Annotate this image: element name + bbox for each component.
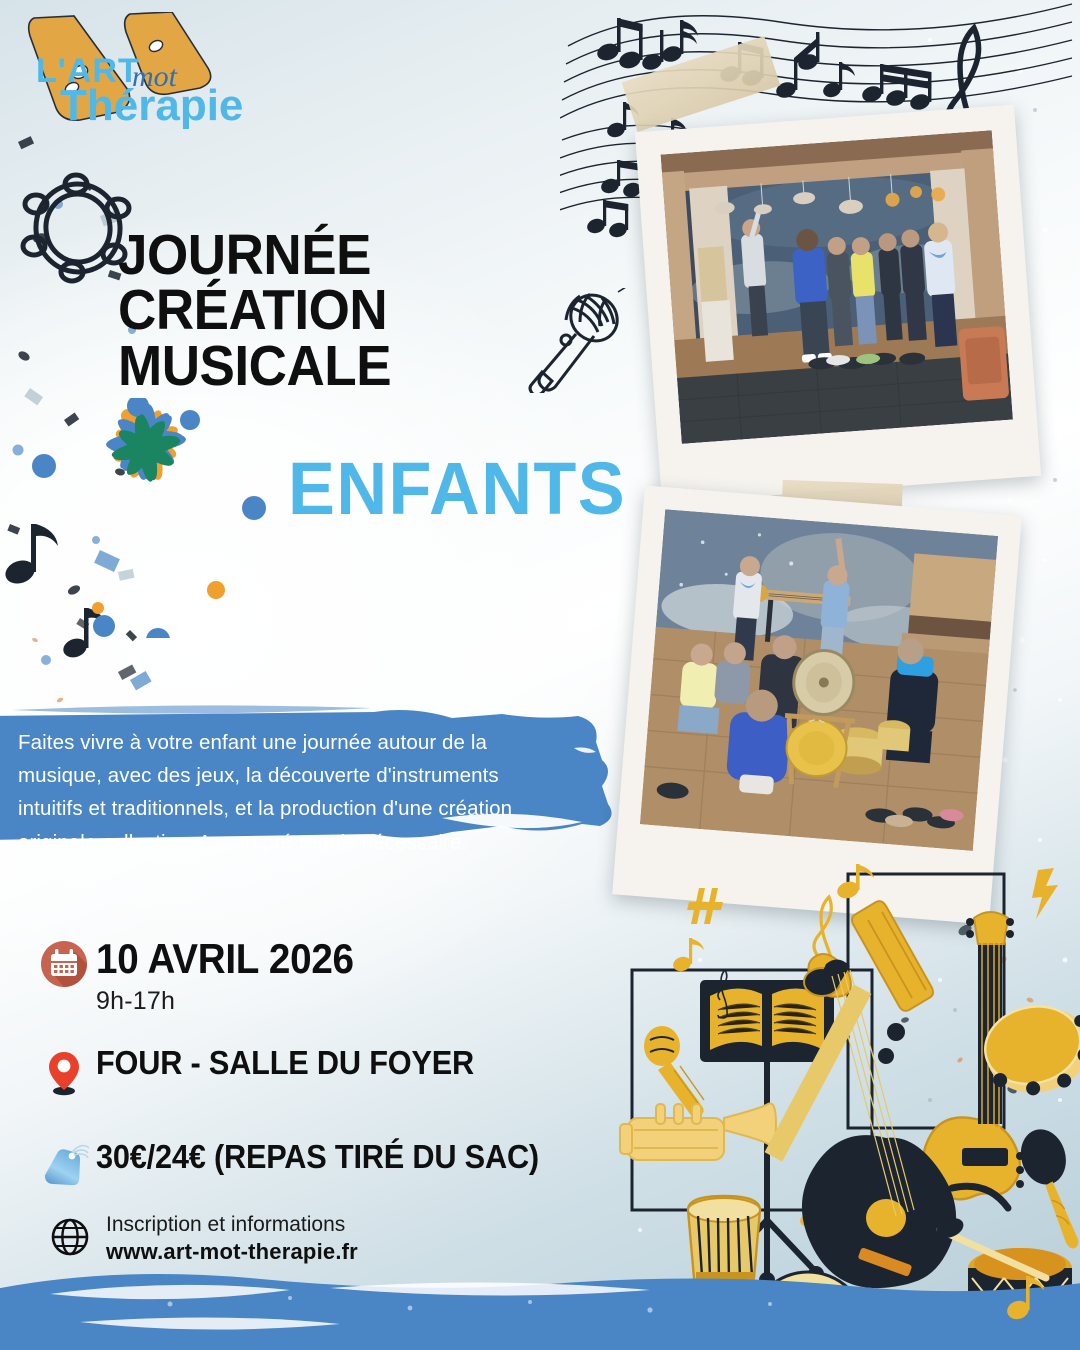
photo-instruments-session bbox=[612, 486, 1022, 925]
brand-logo[interactable]: L'ART mot Thérapie bbox=[22, 22, 272, 132]
description-block: Faites vivre à votre enfant une journée … bbox=[0, 700, 622, 862]
calendar-icon bbox=[36, 938, 92, 988]
title-line-2: MUSICALE bbox=[118, 339, 620, 394]
detail-body-price: 30€/24€ (REPAS TIRÉ DU SAC) bbox=[92, 1140, 572, 1173]
event-location: FOUR - SALLE DU FOYER bbox=[96, 1046, 474, 1079]
event-details: 10 AVRIL 2026 9h-17h FOUR - SALLE DU FOY… bbox=[36, 938, 596, 1206]
description-text: Faites vivre à votre enfant une journée … bbox=[18, 726, 563, 859]
photo-workshop-room bbox=[635, 105, 1041, 504]
firework-burst-graphic bbox=[28, 398, 298, 638]
contact-label: Inscription et informations bbox=[106, 1212, 358, 1238]
title-line-1: JOURNÉE CRÉATION bbox=[118, 223, 387, 342]
map-pin-icon bbox=[36, 1046, 92, 1096]
audience-label: ENFANTS bbox=[288, 452, 626, 526]
bottom-brush-stroke bbox=[0, 1248, 1080, 1350]
detail-row-date: 10 AVRIL 2026 9h-17h bbox=[36, 938, 596, 1016]
price-tag-icon bbox=[36, 1140, 92, 1190]
event-date: 10 AVRIL 2026 bbox=[96, 938, 354, 980]
photo-instruments-session-image bbox=[640, 509, 998, 851]
event-price: 30€/24€ (REPAS TIRÉ DU SAC) bbox=[96, 1140, 539, 1173]
page-title: JOURNÉE CRÉATION MUSICALE bbox=[118, 228, 620, 394]
detail-body-date: 10 AVRIL 2026 9h-17h bbox=[92, 938, 376, 1016]
logo-text-therapie: Thérapie bbox=[60, 84, 243, 128]
photo-workshop-room-image bbox=[661, 130, 1013, 444]
detail-row-location: FOUR - SALLE DU FOYER bbox=[36, 1046, 596, 1096]
detail-body-location: FOUR - SALLE DU FOYER bbox=[92, 1046, 502, 1079]
event-time: 9h-17h bbox=[96, 987, 376, 1016]
washi-tape-1 bbox=[622, 36, 781, 132]
poster-canvas: L'ART mot Thérapie bbox=[0, 0, 1080, 1350]
detail-row-price: 30€/24€ (REPAS TIRÉ DU SAC) bbox=[36, 1140, 596, 1190]
confetti-fragments-left bbox=[0, 120, 160, 740]
